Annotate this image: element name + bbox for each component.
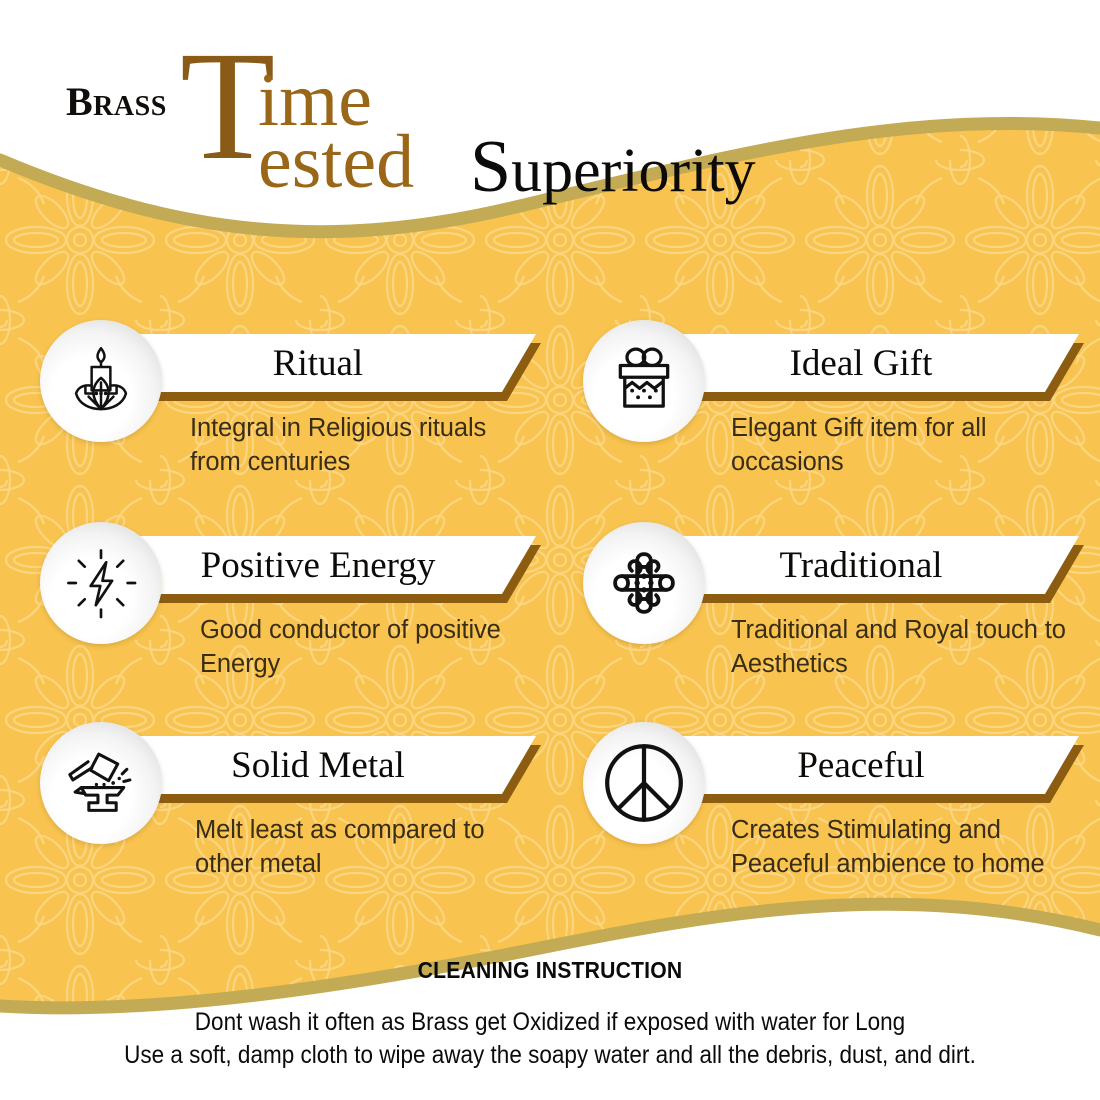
feature-description-solid-metal: Melt least as compared to other metal (195, 814, 535, 882)
cleaning-instruction-body: Dont wash it often as Brass get Oxidized… (55, 1006, 1045, 1072)
title-word-ested: ested (258, 124, 414, 200)
candle-lotus-icon (62, 342, 140, 420)
badge-positive-energy (40, 522, 162, 644)
badge-ideal-gift (583, 320, 705, 442)
badge-traditional (583, 522, 705, 644)
cleaning-instruction-line-1: Dont wash it often as Brass get Oxidized… (55, 1006, 1045, 1039)
ribbon-ideal-gift: Ideal Gift (669, 334, 1079, 394)
feature-card-ideal-gift: Ideal Gift Elegant Gift item for all occ… (583, 320, 1083, 500)
ribbon-solid-metal: Solid Metal (126, 736, 536, 796)
feature-title-peaceful: Peaceful (669, 736, 1079, 794)
ribbon-ritual: Ritual (126, 334, 536, 394)
page-title: Brass T ime ested Superiority (62, 34, 762, 164)
cleaning-instruction-heading: CLEANING INSTRUCTION (44, 957, 1056, 984)
feature-description-ideal-gift: Elegant Gift item for all occasions (731, 412, 1061, 480)
title-word-superiority: Superiority (470, 130, 756, 204)
feature-card-traditional: Traditional Traditional and Royal touch … (583, 522, 1083, 702)
ribbon-positive-energy: Positive Energy (126, 536, 536, 596)
infographic-canvas: Brass T ime ested Superiority (0, 0, 1100, 1100)
title-superiority-rest: uperiority (511, 137, 756, 205)
title-word-brass: Brass (66, 82, 167, 122)
feature-description-positive-energy: Good conductor of positive Energy (200, 614, 530, 682)
feature-card-positive-energy: Positive Energy Good conductor of positi… (40, 522, 540, 702)
ribbon-traditional: Traditional (669, 536, 1079, 596)
feature-title-positive-energy: Positive Energy (126, 536, 536, 594)
ribbon-peaceful: Peaceful (669, 736, 1079, 796)
lightning-bolt-icon (64, 546, 138, 620)
feature-card-peaceful: Peaceful Creates Stimulating and Peacefu… (583, 722, 1083, 922)
badge-peaceful (583, 722, 705, 844)
endless-knot-icon (606, 545, 682, 621)
feature-card-ritual: Ritual Integral in Religious rituals fro… (40, 320, 540, 500)
feature-card-solid-metal: Solid Metal Melt least as compared to ot… (40, 722, 540, 912)
title-superiority-cap: S (470, 126, 511, 208)
feature-description-peaceful: Creates Stimulating and Peaceful ambienc… (731, 814, 1061, 882)
feature-description-traditional: Traditional and Royal touch to Aesthetic… (731, 614, 1071, 682)
peace-symbol-icon (598, 737, 690, 829)
feature-title-solid-metal: Solid Metal (126, 736, 536, 794)
badge-solid-metal (40, 722, 162, 844)
feature-title-ritual: Ritual (126, 334, 536, 392)
badge-ritual (40, 320, 162, 442)
cleaning-instruction-line-2: Use a soft, damp cloth to wipe away the … (55, 1039, 1045, 1072)
gift-box-icon (607, 344, 681, 418)
feature-title-ideal-gift: Ideal Gift (669, 334, 1079, 392)
feature-description-ritual: Integral in Religious rituals from centu… (190, 412, 520, 480)
hammer-anvil-icon (63, 745, 139, 821)
feature-title-traditional: Traditional (669, 536, 1079, 594)
